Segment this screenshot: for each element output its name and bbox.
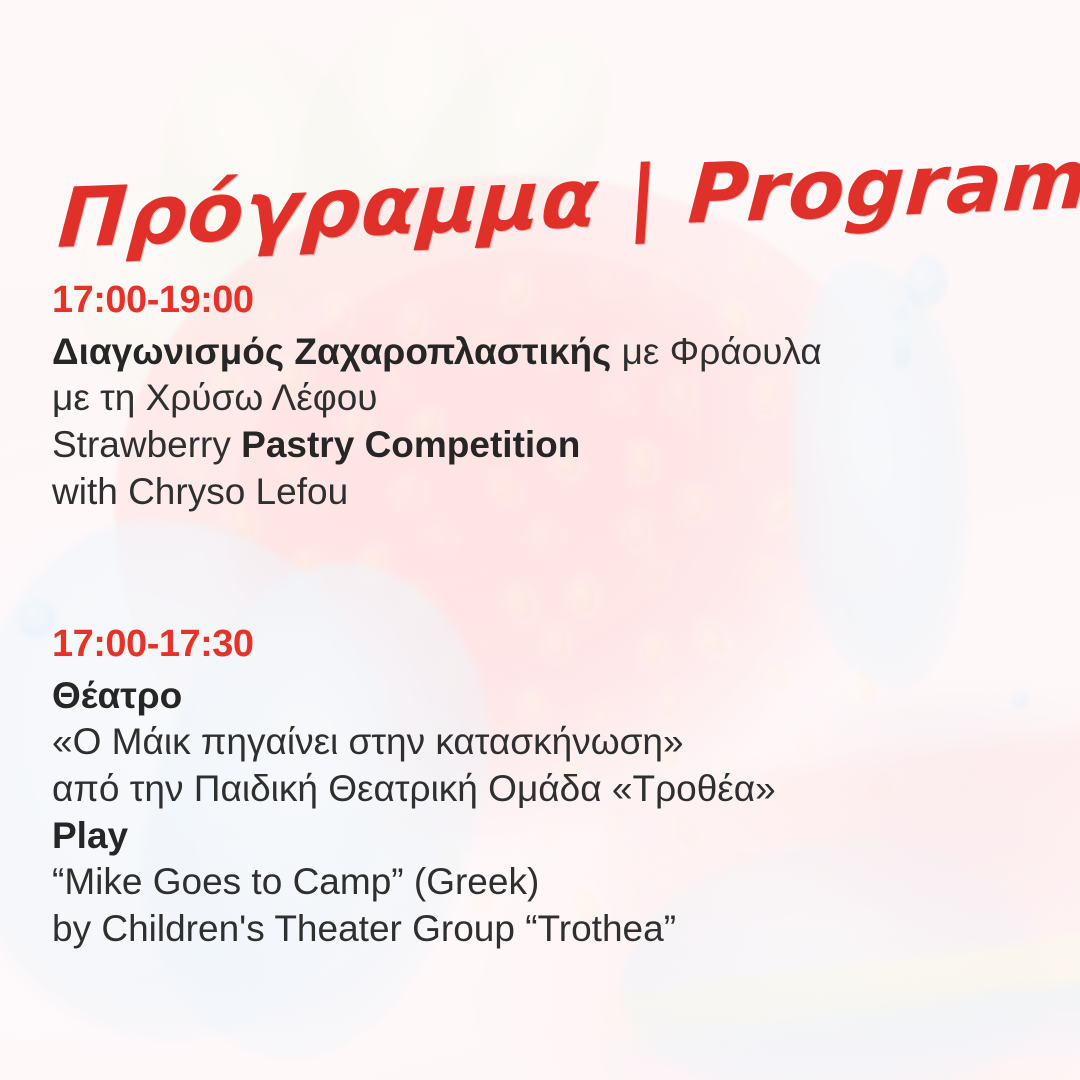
event-line: Θέατρο (52, 673, 1040, 720)
event-line: Play (52, 813, 1040, 860)
event-time: 17:00-17:30 (52, 622, 1040, 667)
event-line: “Mike Goes to Camp” (Greek) (52, 859, 1040, 906)
poster-content: Πρόγραμμα | Program 17:00-19:00 Διαγωνισ… (0, 0, 1080, 1080)
event-line: with Chryso Lefou (52, 469, 1040, 516)
page-title: Πρόγραμμα | Program (56, 139, 1080, 261)
event-line-emphasis: Διαγωνισμός Ζαχαροπλαστικής (52, 331, 611, 372)
event-line: με τη Χρύσω Λέφου (52, 375, 1040, 422)
event-line-text: «Ο Μάικ πηγαίνει στην κατασκήνωση» (52, 721, 684, 762)
event-block: 17:00-17:30 Θέατρο«Ο Μάικ πηγαίνει στην … (52, 622, 1040, 952)
event-line-emphasis: Pastry Competition (241, 424, 580, 465)
event-line: από την Παιδική Θεατρική Ομάδα «Τροθέα» (52, 766, 1040, 813)
event-line-text: από την Παιδική Θεατρική Ομάδα «Τροθέα» (52, 768, 776, 809)
event-description: Θέατρο«Ο Μάικ πηγαίνει στην κατασκήνωση»… (52, 673, 1040, 953)
event-line: Διαγωνισμός Ζαχαροπλαστικής με Φράουλα (52, 329, 1040, 376)
event-line-text: με τη Χρύσω Λέφου (52, 377, 378, 418)
program-poster: Πρόγραμμα | Program 17:00-19:00 Διαγωνισ… (0, 0, 1080, 1080)
event-time: 17:00-19:00 (52, 278, 1040, 323)
event-line-text: by Children's Theater Group “Trothea” (52, 908, 676, 949)
event-line: Strawberry Pastry Competition (52, 422, 1040, 469)
event-line: «Ο Μάικ πηγαίνει στην κατασκήνωση» (52, 719, 1040, 766)
event-line-emphasis: Play (52, 815, 128, 856)
event-line-text: Strawberry (52, 424, 241, 465)
event-line: by Children's Theater Group “Trothea” (52, 906, 1040, 953)
event-block: 17:00-19:00 Διαγωνισμός Ζαχαροπλαστικής … (52, 278, 1040, 515)
event-line-text: “Mike Goes to Camp” (Greek) (52, 861, 539, 902)
event-line-text: with Chryso Lefou (52, 471, 348, 512)
event-line-text: με Φράουλα (611, 331, 821, 372)
event-line-emphasis: Θέατρο (52, 675, 182, 716)
event-description: Διαγωνισμός Ζαχαροπλαστικής με Φράουλαμε… (52, 329, 1040, 515)
